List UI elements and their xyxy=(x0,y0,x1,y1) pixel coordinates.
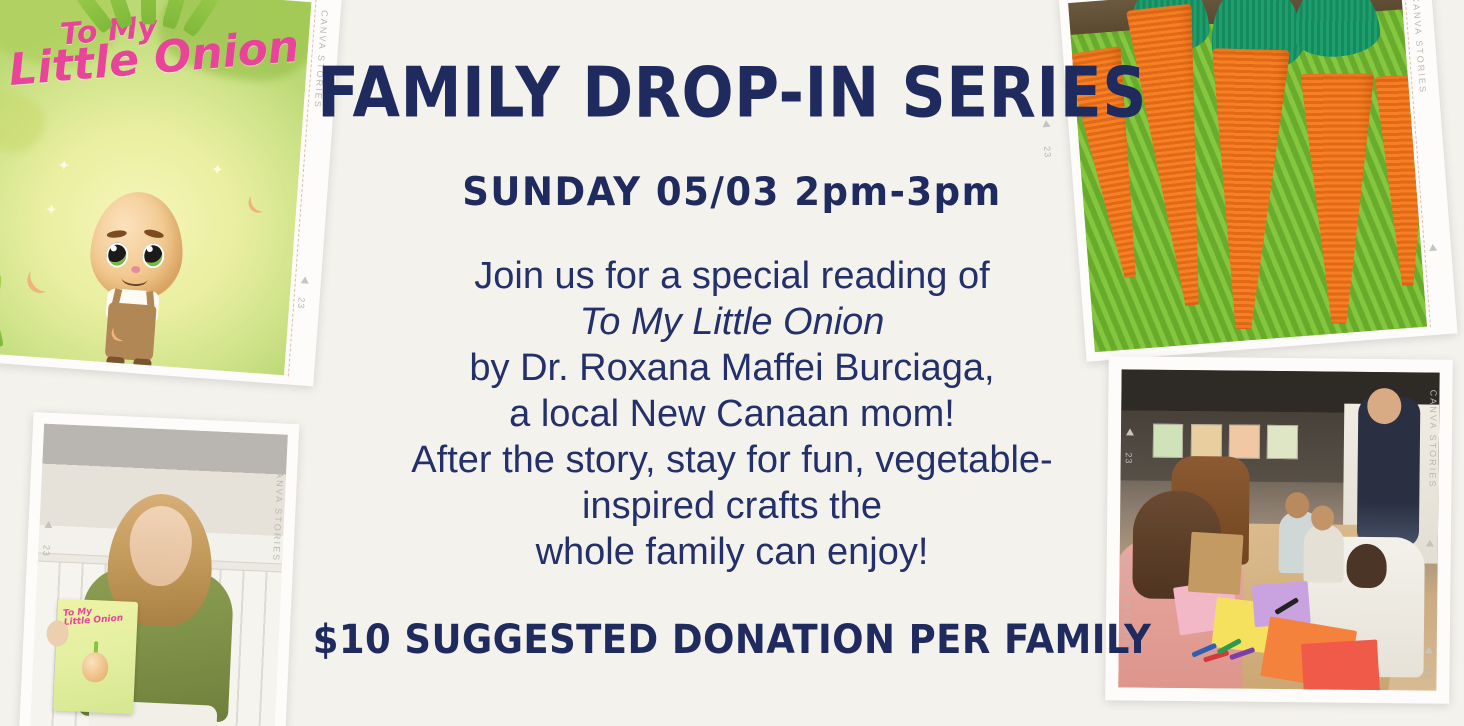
frame-edge-mark: 23 xyxy=(1042,146,1053,159)
author-photo-image: To MyLittle Onion xyxy=(30,424,288,726)
book-title-line: To My Little Onion xyxy=(300,299,1164,345)
author-photo: To MyLittle Onion CANVA STORIES 23 xyxy=(19,412,300,726)
event-description: Join us for a special reading of To My L… xyxy=(300,253,1164,575)
page-title: FAMILY DROP-IN SERIES xyxy=(7,52,1456,134)
frame-edge-mark: 23 xyxy=(41,545,52,557)
description-line-1: Join us for a special reading of xyxy=(300,253,1164,299)
triangle-icon xyxy=(44,521,52,528)
canva-watermark: CANVA STORIES xyxy=(1427,390,1438,489)
event-poster: To My Little Onion xyxy=(0,0,1464,726)
description-line-7: whole family can enjoy! xyxy=(300,529,1164,575)
event-datetime: SUNDAY 05/03 2pm-3pm xyxy=(0,169,1464,215)
triangle-icon xyxy=(1429,244,1438,252)
description-line-3: by Dr. Roxana Maffei Burciaga, xyxy=(300,345,1164,391)
description-line-5: After the story, stay for fun, vegetable… xyxy=(300,437,1164,483)
description-line-4: a local New Canaan mom! xyxy=(300,391,1164,437)
frame-edge-mark: 23 xyxy=(1423,668,1433,680)
triangle-icon xyxy=(1426,540,1434,547)
description-line-6: inspired crafts the xyxy=(300,483,1164,529)
donation-note: $10 SUGGESTED DONATION PER FAMILY xyxy=(0,616,1464,662)
